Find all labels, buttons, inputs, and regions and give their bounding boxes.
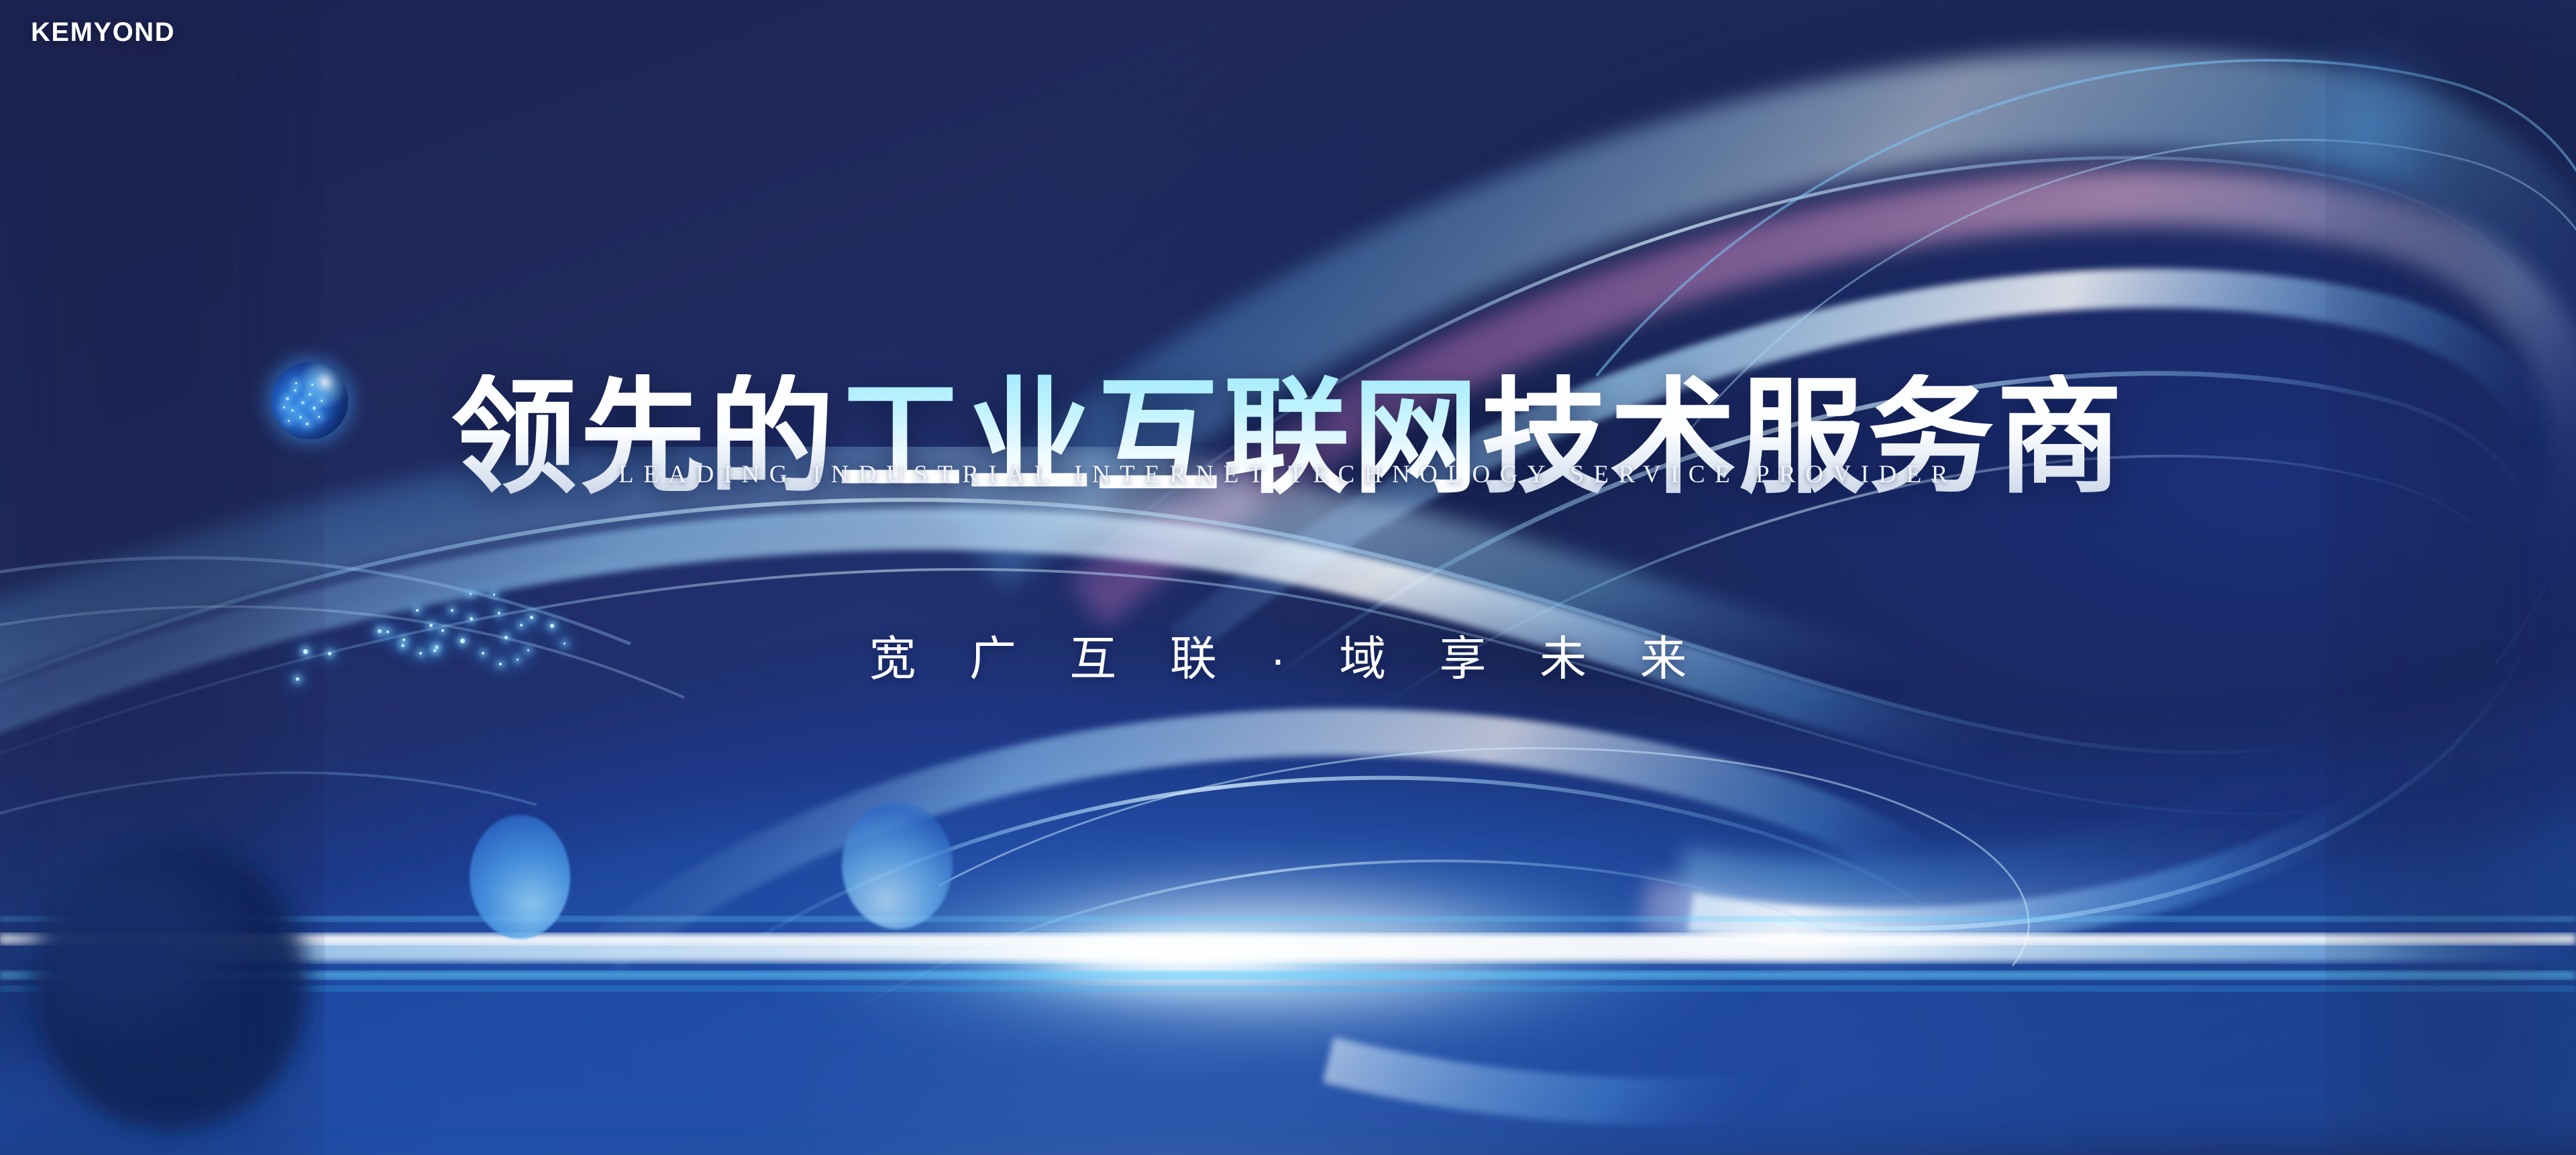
sphere-mid-left bbox=[470, 815, 570, 939]
dark-sphere bbox=[34, 842, 309, 1130]
background-artwork bbox=[0, 0, 2576, 1155]
tagline-separator: · bbox=[1270, 632, 1305, 685]
page-subtitle: LEADING INDUSTRIAL INTERNET TECHNOLOGY S… bbox=[0, 460, 2576, 489]
tagline-left: 宽 广 互 联 bbox=[869, 632, 1237, 685]
soft-glow-orb bbox=[2284, 37, 2465, 218]
banner-canvas: KEMYOND 领先的工业互联网技术服务商 LEADING INDUSTRIAL… bbox=[0, 0, 2576, 1155]
tagline-right: 域 享 未 来 bbox=[1339, 632, 1707, 685]
light-ribbons-svg bbox=[0, 0, 2576, 1155]
sphere-mid-center bbox=[842, 802, 953, 929]
page-tagline: 宽 广 互 联 · 域 享 未 来 bbox=[0, 621, 2576, 689]
brand-logo: KEMYOND bbox=[31, 17, 175, 48]
